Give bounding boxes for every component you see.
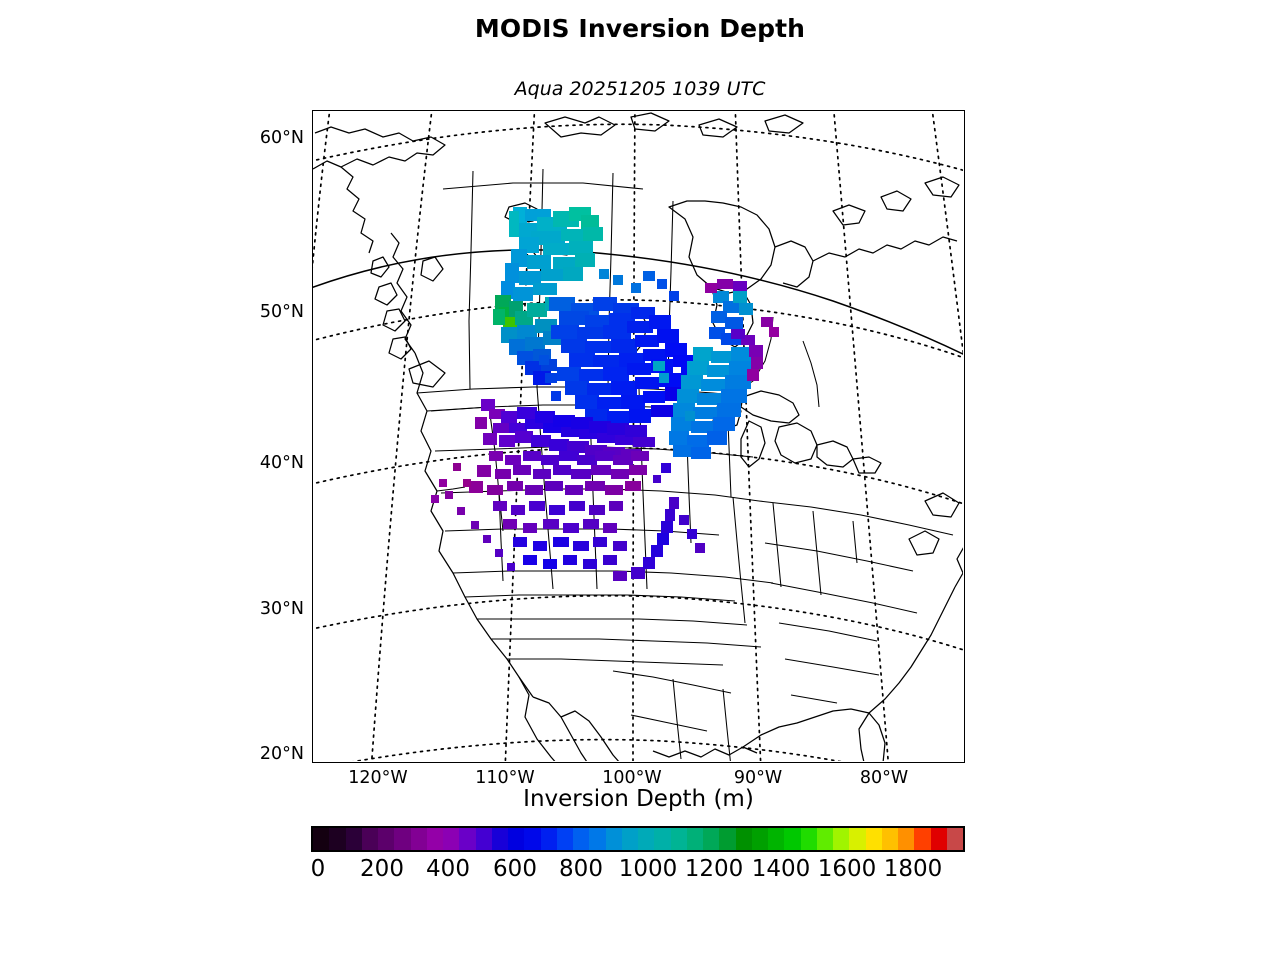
colorbar-segment <box>459 828 475 850</box>
colorbar-tick-800: 800 <box>559 856 603 882</box>
colorbar-tick-400: 400 <box>426 856 470 882</box>
colorbar-tick-1000: 1000 <box>619 856 678 882</box>
colorbar-segment <box>329 828 345 850</box>
colorbar-segment <box>866 828 882 850</box>
colorbar-segment <box>313 828 329 850</box>
colorbar-segment <box>622 828 638 850</box>
lat-tick-40n: 40°N <box>260 453 304 473</box>
colorbar-segment <box>768 828 784 850</box>
lat-tick-50n: 50°N <box>260 302 304 322</box>
colorbar-segment <box>947 828 963 850</box>
lat-tick-20n: 20°N <box>260 744 304 764</box>
colorbar-segment <box>914 828 930 850</box>
lon-tick-90w: 90°W <box>734 768 782 788</box>
colorbar-tick-600: 600 <box>493 856 537 882</box>
colorbar-segment <box>719 828 735 850</box>
colorbar-segment <box>638 828 654 850</box>
colorbar-segment <box>476 828 492 850</box>
lat-tick-60n: 60°N <box>260 128 304 148</box>
colorbar[interactable] <box>311 826 965 852</box>
colorbar-segment <box>508 828 524 850</box>
figure-canvas: MODIS Inversion Depth Aqua 20251205 1039… <box>0 0 1280 960</box>
colorbar-segment <box>898 828 914 850</box>
colorbar-tick-0: 0 <box>311 856 326 882</box>
colorbar-tick-1600: 1600 <box>818 856 877 882</box>
colorbar-segment <box>703 828 719 850</box>
colorbar-segment <box>849 828 865 850</box>
lat-tick-30n: 30°N <box>260 599 304 619</box>
lon-tick-110w: 110°W <box>475 768 534 788</box>
colorbar-tick-1200: 1200 <box>685 856 744 882</box>
colorbar-segment <box>882 828 898 850</box>
lon-tick-100w: 100°W <box>602 768 661 788</box>
lon-tick-80w: 80°W <box>860 768 908 788</box>
colorbar-segment <box>817 828 833 850</box>
colorbar-segment <box>833 828 849 850</box>
colorbar-segment <box>378 828 394 850</box>
colorbar-segment <box>671 828 687 850</box>
colorbar-segment <box>589 828 605 850</box>
colorbar-segment <box>394 828 410 850</box>
colorbar-segment <box>346 828 362 850</box>
colorbar-segment <box>524 828 540 850</box>
colorbar-tick-1800: 1800 <box>884 856 943 882</box>
colorbar-segment <box>654 828 670 850</box>
colorbar-segment <box>573 828 589 850</box>
colorbar-segment <box>492 828 508 850</box>
colorbar-segment <box>427 828 443 850</box>
lon-tick-120w: 120°W <box>348 768 407 788</box>
colorbar-segment <box>687 828 703 850</box>
colorbar-axis-title: Inversion Depth (m) <box>312 786 965 812</box>
colorbar-segment <box>736 828 752 850</box>
colorbar-segment <box>606 828 622 850</box>
colorbar-tick-200: 200 <box>360 856 404 882</box>
colorbar-segment <box>541 828 557 850</box>
colorbar-segment <box>362 828 378 850</box>
colorbar-segment <box>752 828 768 850</box>
colorbar-segment <box>443 828 459 850</box>
colorbar-tick-1400: 1400 <box>752 856 811 882</box>
colorbar-segment <box>784 828 800 850</box>
colorbar-segment <box>931 828 947 850</box>
colorbar-segment <box>801 828 817 850</box>
colorbar-segment <box>411 828 427 850</box>
colorbar-segment <box>557 828 573 850</box>
latitude-tick-labels: 60°N 50°N 40°N 30°N 20°N 120°W 110°W 100… <box>0 0 1280 960</box>
